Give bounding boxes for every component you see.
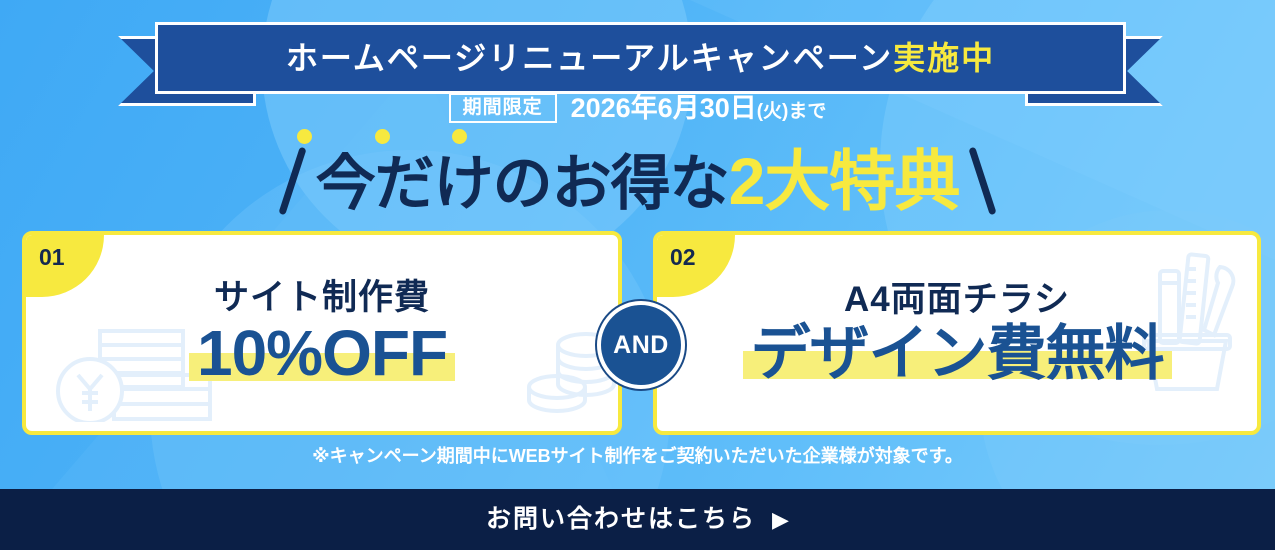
benefit-main-wrap: 10%OFF xyxy=(197,320,447,387)
benefit-card-01-body: サイト制作費 10%OFF xyxy=(26,235,618,431)
benefit-card-02-body: A4両面チラシ デザイン費無料 xyxy=(657,235,1257,431)
headline-highlight: 2大特典 xyxy=(729,144,960,218)
benefit-card-02: 02 A4両面チラシ デザイン費無料 xyxy=(653,231,1261,435)
contact-cta-label: お問い合わせはこちら xyxy=(486,507,756,532)
benefit-subtitle: A4両面チラシ xyxy=(844,281,1070,320)
period-date-suffix: (火)まで xyxy=(757,101,827,122)
contact-cta-button[interactable]: お問い合わせはこちら ▶ xyxy=(0,489,1275,550)
headline-row: 今だけのお得な2大特典 xyxy=(0,140,1275,222)
headline-slash-right-icon xyxy=(969,147,997,216)
and-badge-label: AND xyxy=(613,333,669,358)
benefit-main-text: デザイン費無料 xyxy=(751,320,1164,387)
ribbon-title: ホームページリニューアルキャンペーン実施中 xyxy=(286,42,995,74)
arrow-right-icon: ▶ xyxy=(772,509,789,531)
benefit-main-wrap: デザイン費無料 xyxy=(751,322,1164,385)
period-date-value: 2026年6月30日 xyxy=(571,93,757,123)
benefit-card-01: 01 xyxy=(22,231,622,435)
benefit-subtitle: サイト制作費 xyxy=(214,279,430,318)
ribbon-title-highlight: 実施中 xyxy=(893,40,995,76)
campaign-note: ※キャンペーン期間中にWEBサイト制作をご契約いただいた企業様が対象です。 xyxy=(0,447,1275,465)
campaign-banner: ホームページリニューアルキャンペーン実施中 期間限定 2026年6月30日(火)… xyxy=(0,0,1275,550)
period-tag: 期間限定 xyxy=(449,93,557,123)
and-badge: AND xyxy=(597,301,685,389)
period-row: 期間限定 2026年6月30日(火)まで xyxy=(0,93,1275,123)
headline-slash-left-icon xyxy=(278,147,306,216)
ribbon-body: ホームページリニューアルキャンペーン実施中 xyxy=(155,22,1126,94)
headline-lead: 今だけのお得な xyxy=(316,150,729,217)
ribbon-title-main: ホームページリニューアルキャンペーン xyxy=(286,40,893,76)
benefit-main-text: 10%OFF xyxy=(197,317,447,389)
period-date: 2026年6月30日(火)まで xyxy=(571,95,827,122)
headline-text: 今だけのお得な2大特典 xyxy=(316,148,960,214)
